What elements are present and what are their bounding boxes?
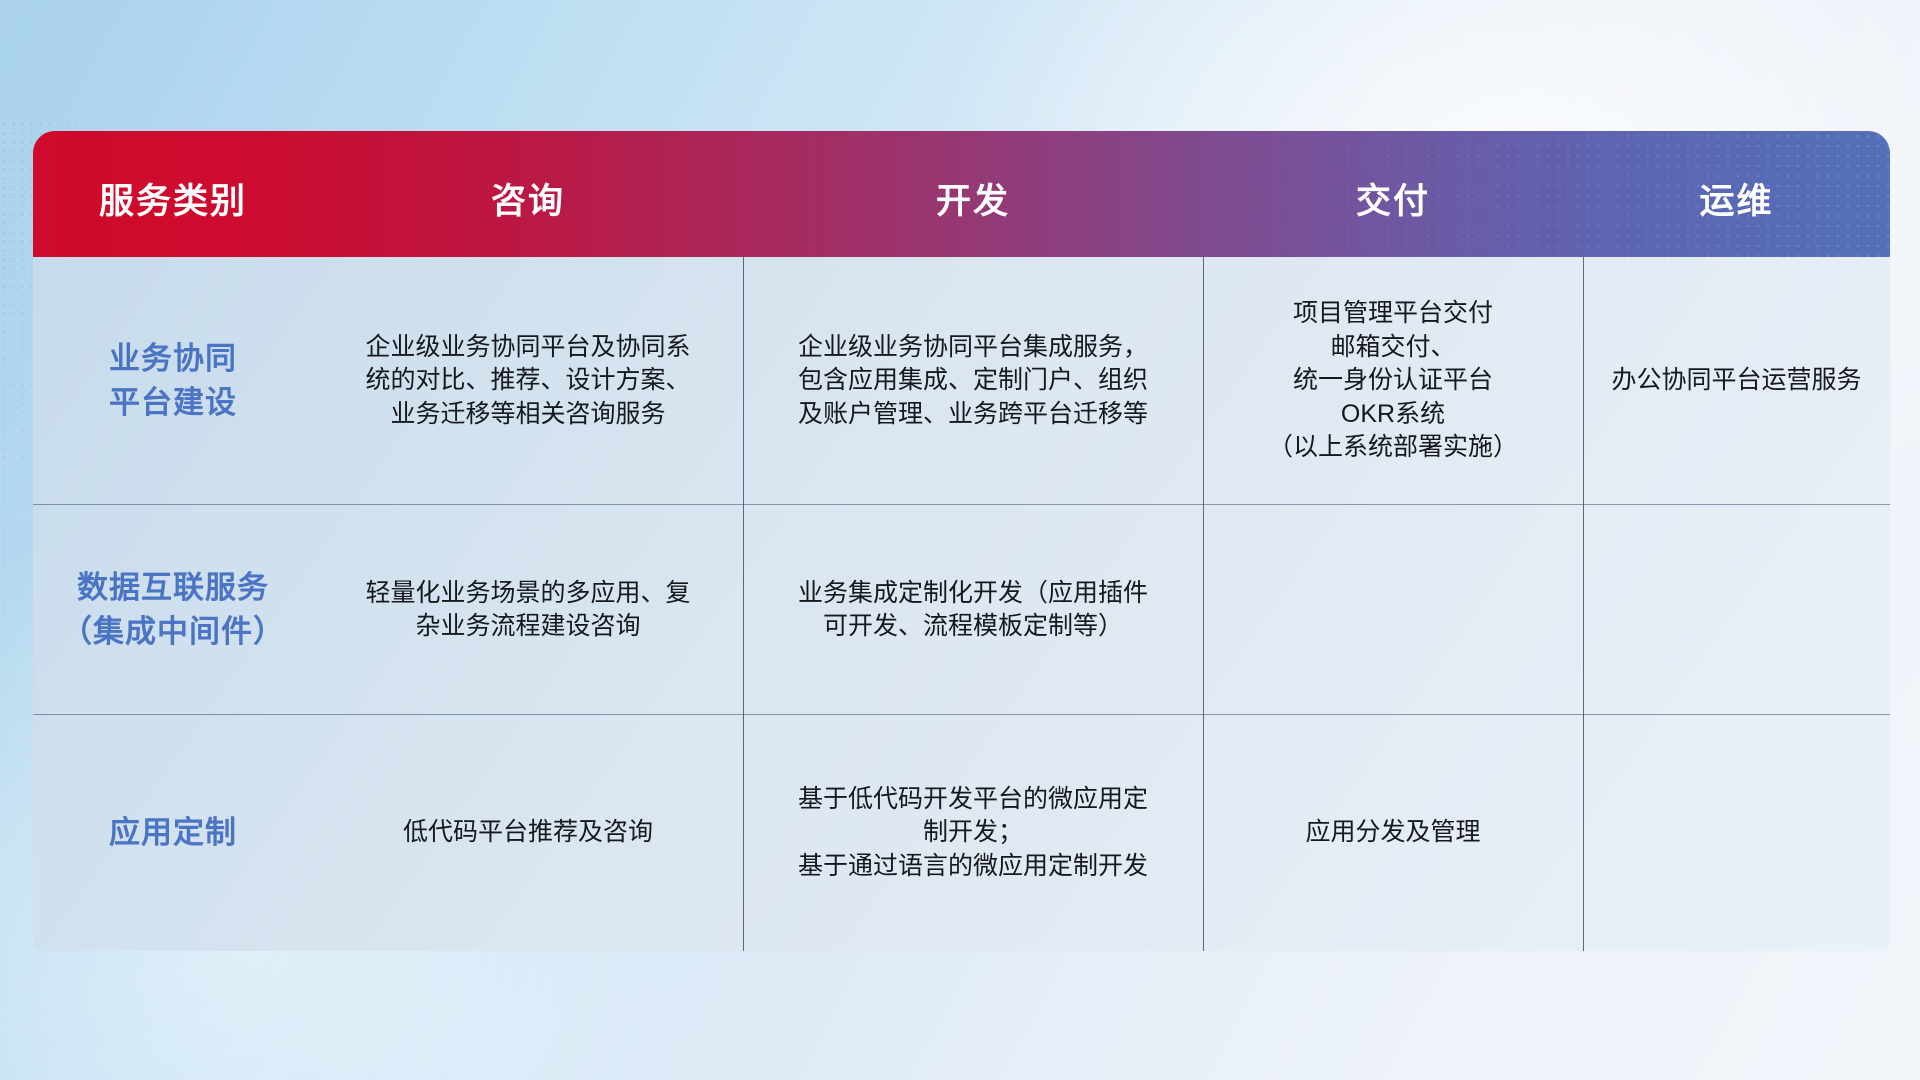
cell-delivery bbox=[1203, 505, 1583, 715]
table-row: 应用定制 低代码平台推荐及咨询 基于低代码开发平台的微应用定 制开发； 基于通过… bbox=[33, 715, 1890, 951]
column-header-label: 服务类别 bbox=[99, 173, 247, 224]
row-category-label: 业务协同 平台建设 bbox=[33, 257, 313, 505]
cell-operations bbox=[1583, 715, 1890, 951]
row-category-label: 数据互联服务 （集成中间件） bbox=[33, 505, 313, 715]
table-body: 业务协同 平台建设 企业级业务协同平台及协同系 统的对比、推荐、设计方案、 业务… bbox=[33, 257, 1890, 951]
table-header-row: 服务类别 咨询 开发 交付 运维 bbox=[33, 131, 1890, 257]
column-header-delivery: 交付 bbox=[1203, 131, 1583, 257]
column-header-label: 运维 bbox=[1699, 173, 1773, 224]
cell-operations: 办公协同平台运营服务 bbox=[1583, 257, 1890, 505]
column-header-consulting: 咨询 bbox=[313, 131, 743, 257]
table-row: 业务协同 平台建设 企业级业务协同平台及协同系 统的对比、推荐、设计方案、 业务… bbox=[33, 257, 1890, 505]
cell-operations bbox=[1583, 505, 1890, 715]
cell-consulting: 低代码平台推荐及咨询 bbox=[313, 715, 743, 951]
column-header-label: 开发 bbox=[936, 173, 1010, 224]
column-header-service-category: 服务类别 bbox=[33, 131, 313, 257]
row-category-label: 应用定制 bbox=[33, 715, 313, 951]
cell-development: 业务集成定制化开发（应用插件 可开发、流程模板定制等） bbox=[743, 505, 1203, 715]
column-header-development: 开发 bbox=[743, 131, 1203, 257]
cell-delivery: 应用分发及管理 bbox=[1203, 715, 1583, 951]
column-header-label: 交付 bbox=[1356, 173, 1430, 224]
cell-consulting: 轻量化业务场景的多应用、复 杂业务流程建设咨询 bbox=[313, 505, 743, 715]
table-row: 数据互联服务 （集成中间件） 轻量化业务场景的多应用、复 杂业务流程建设咨询 业… bbox=[33, 505, 1890, 715]
cell-development: 企业级业务协同平台集成服务， 包含应用集成、定制门户、组织 及账户管理、业务跨平… bbox=[743, 257, 1203, 505]
cell-consulting: 企业级业务协同平台及协同系 统的对比、推荐、设计方案、 业务迁移等相关咨询服务 bbox=[313, 257, 743, 505]
column-header-operations: 运维 bbox=[1583, 131, 1890, 257]
cell-development: 基于低代码开发平台的微应用定 制开发； 基于通过语言的微应用定制开发 bbox=[743, 715, 1203, 951]
column-header-label: 咨询 bbox=[491, 173, 565, 224]
cell-delivery: 项目管理平台交付 邮箱交付、 统一身份认证平台 OKR系统 （以上系统部署实施） bbox=[1203, 257, 1583, 505]
service-matrix-table: 服务类别 咨询 开发 交付 运维 业务协同 平台建设 企业级业务协同平台及协同系… bbox=[33, 131, 1890, 951]
